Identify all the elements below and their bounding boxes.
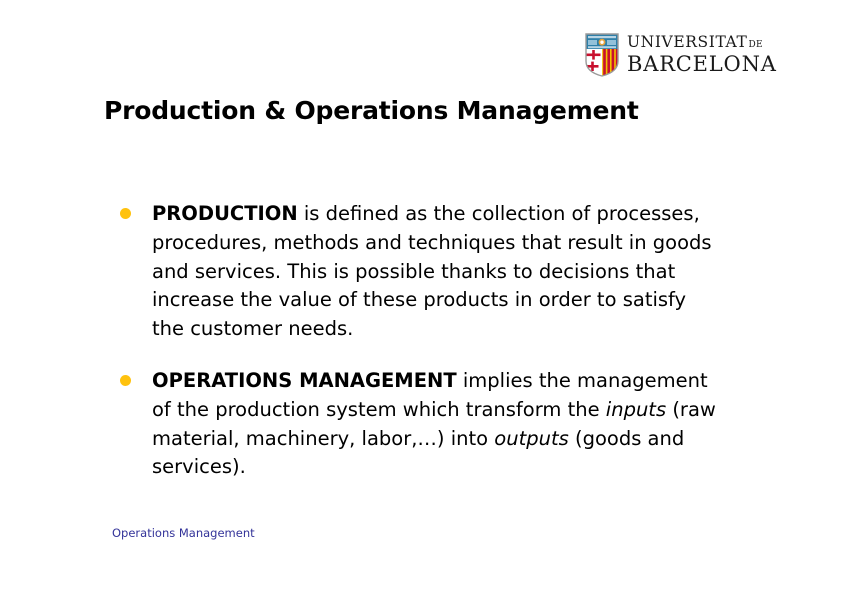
logo-wordmark: UNIVERSITATDE BARCELONA (627, 35, 777, 75)
bullet-text-production: PRODUCTION is defined as the collection … (152, 200, 724, 344)
logo-text-de: DE (748, 41, 762, 50)
slide-title: Production & Operations Management (104, 96, 639, 125)
logo-text-universitat: UNIVERSITAT (627, 35, 747, 51)
bullet-item-operations-management: OPERATIONS MANAGEMENT implies the manage… (104, 367, 724, 482)
bullet-italic-inputs: inputs (606, 398, 666, 421)
bullet-dot-icon (120, 208, 131, 219)
bullet-lead-operations-management: OPERATIONS MANAGEMENT (152, 369, 457, 392)
slide-footer: Operations Management (112, 526, 255, 540)
barcelona-crest-icon (585, 33, 619, 77)
bullet-text-operations-management: OPERATIONS MANAGEMENT implies the manage… (152, 367, 724, 482)
bullet-lead-production: PRODUCTION (152, 202, 298, 225)
logo-text-barcelona: BARCELONA (627, 54, 777, 75)
slide-canvas: UNIVERSITATDE BARCELONA Production & Ope… (0, 0, 848, 599)
slide-body: PRODUCTION is defined as the collection … (104, 200, 724, 482)
logo-line-universitat: UNIVERSITATDE (627, 35, 777, 51)
bullet-italic-outputs: outputs (494, 427, 568, 450)
universitat-de-barcelona-logo: UNIVERSITATDE BARCELONA (585, 33, 777, 77)
bullet-item-production: PRODUCTION is defined as the collection … (104, 200, 724, 344)
bullet-dot-icon (120, 375, 131, 386)
